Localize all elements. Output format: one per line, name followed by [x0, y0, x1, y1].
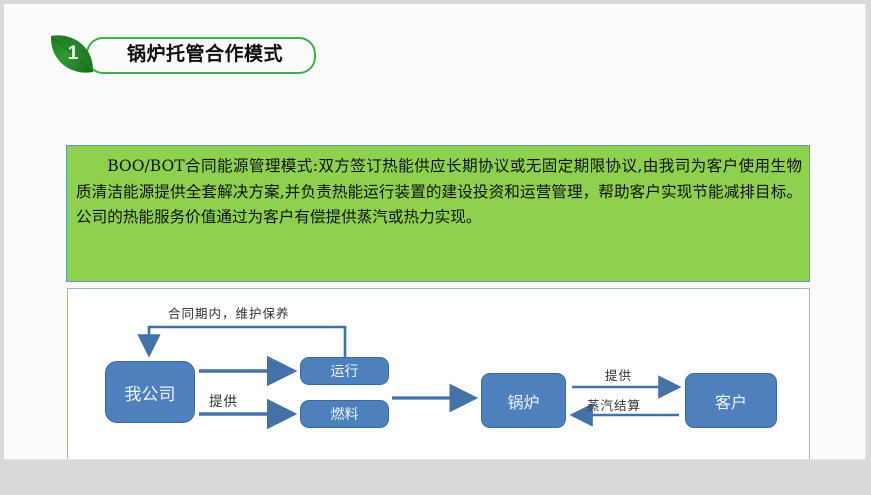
summary-box: BOO/BOT合同能源管理模式:双方签订热能供应长期协议或无固定期限协议,由我司…	[66, 145, 810, 282]
page-title: 锅炉托管合作模式	[100, 38, 310, 70]
slide-header: 1 锅炉托管合作模式	[44, 28, 344, 80]
edge-label-provide-boiler: 提供	[605, 365, 632, 384]
slide-canvas: 1 锅炉托管合作模式 BOO/BOT合同能源管理模式:双方签订热能供应长期协议或…	[4, 4, 866, 460]
edge-label-contract: 合同期内，维护保养	[168, 303, 290, 322]
diagram-node-fuel: 燃料	[300, 400, 389, 428]
edge-label-provide-company: 提供	[209, 390, 238, 410]
diagram-node-operate: 运行	[300, 357, 389, 385]
summary-text: BOO/BOT合同能源管理模式:双方签订热能供应长期协议或无固定期限协议,由我司…	[76, 154, 802, 231]
badge-number: 1	[47, 30, 97, 78]
process-diagram: 我公司 运行 燃料 锅炉 客户 合同期内，维护保养 提供 提供 蒸汽结算	[67, 288, 810, 460]
diagram-node-client: 客户	[685, 373, 777, 428]
leaf-icon: 1	[47, 30, 97, 78]
diagram-node-boiler: 锅炉	[481, 373, 566, 428]
diagram-node-company: 我公司	[105, 361, 195, 423]
edge-label-settlement: 蒸汽结算	[587, 395, 641, 414]
